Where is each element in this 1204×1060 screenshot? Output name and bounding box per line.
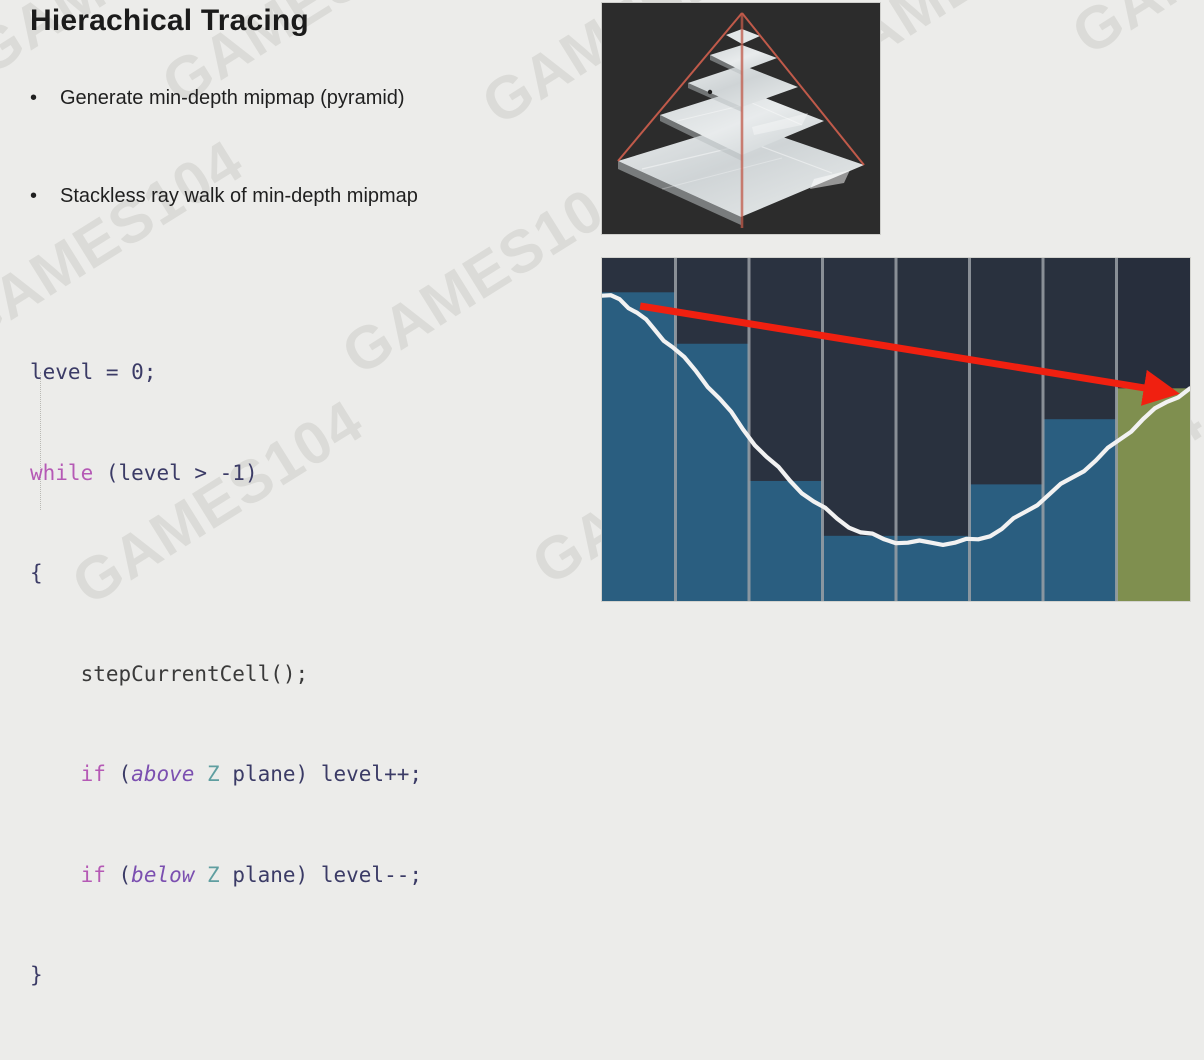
hiz-cell-bar <box>676 344 750 601</box>
hiz-raywalk-figure <box>602 258 1190 601</box>
code-line: } <box>30 959 422 993</box>
code-token-emphasis: above <box>131 762 194 786</box>
code-token-brace: } <box>30 963 43 987</box>
code-token-keyword: if <box>81 863 106 887</box>
code-token-operator: ( <box>93 461 118 485</box>
code-line: if (below Z plane) level--; <box>30 859 422 893</box>
code-space <box>194 762 207 786</box>
code-token-keyword: if <box>81 762 106 786</box>
bullet-text: Generate min-depth mipmap (pyramid) <box>60 85 405 111</box>
code-line: level = 0; <box>30 356 422 390</box>
code-token-variable: level <box>30 360 93 384</box>
hiz-cell-hit-bar <box>1117 388 1191 601</box>
code-token-operator: plane) <box>220 762 321 786</box>
code-line: if (above Z plane) level++; <box>30 758 422 792</box>
code-token-variable: level <box>119 461 182 485</box>
code-token-variable: level <box>321 863 384 887</box>
pyramid-svg <box>602 3 880 234</box>
code-token-operator: plane) <box>220 863 321 887</box>
code-token-operator: ( <box>106 762 131 786</box>
code-token-emphasis: below <box>131 863 194 887</box>
code-line: { <box>30 557 422 591</box>
code-token-operator: ( <box>106 863 131 887</box>
hiz-cell-bar <box>823 536 897 601</box>
code-token-operator: --; <box>384 863 422 887</box>
hiz-cell-bar <box>1043 419 1117 601</box>
code-token-brace: { <box>30 561 43 585</box>
page-title: Hierachical Tracing <box>30 4 309 38</box>
bullet-marker-icon: • <box>30 85 60 111</box>
code-indent <box>30 863 81 887</box>
bullet-text: Stackless ray walk of min-depth mipmap <box>60 183 418 209</box>
hiz-cell-bar <box>896 536 970 601</box>
slide-content: Hierachical Tracing • Generate min-depth… <box>0 0 1204 614</box>
code-token-function: stepCurrentCell(); <box>30 662 308 686</box>
hiz-cell-bar <box>970 484 1044 601</box>
code-token-variable: level <box>321 762 384 786</box>
code-block: level = 0; while (level > -1) { stepCurr… <box>30 289 422 1060</box>
code-token-type: Z <box>207 762 220 786</box>
code-token-operator: = 0; <box>93 360 156 384</box>
bullet-item: • Stackless ray walk of min-depth mipmap <box>30 183 418 209</box>
code-token-keyword: while <box>30 461 93 485</box>
code-token-operator: > -1) <box>182 461 258 485</box>
code-line: while (level > -1) <box>30 457 422 491</box>
code-token-type: Z <box>207 863 220 887</box>
bullet-marker-icon: • <box>30 183 60 209</box>
hiz-svg <box>602 258 1190 601</box>
code-indent <box>30 762 81 786</box>
code-space <box>194 863 207 887</box>
mipmap-pyramid-figure <box>602 3 880 234</box>
bullet-item: • Generate min-depth mipmap (pyramid) <box>30 85 405 111</box>
code-line: stepCurrentCell(); <box>30 658 422 692</box>
code-token-operator: ++; <box>384 762 422 786</box>
